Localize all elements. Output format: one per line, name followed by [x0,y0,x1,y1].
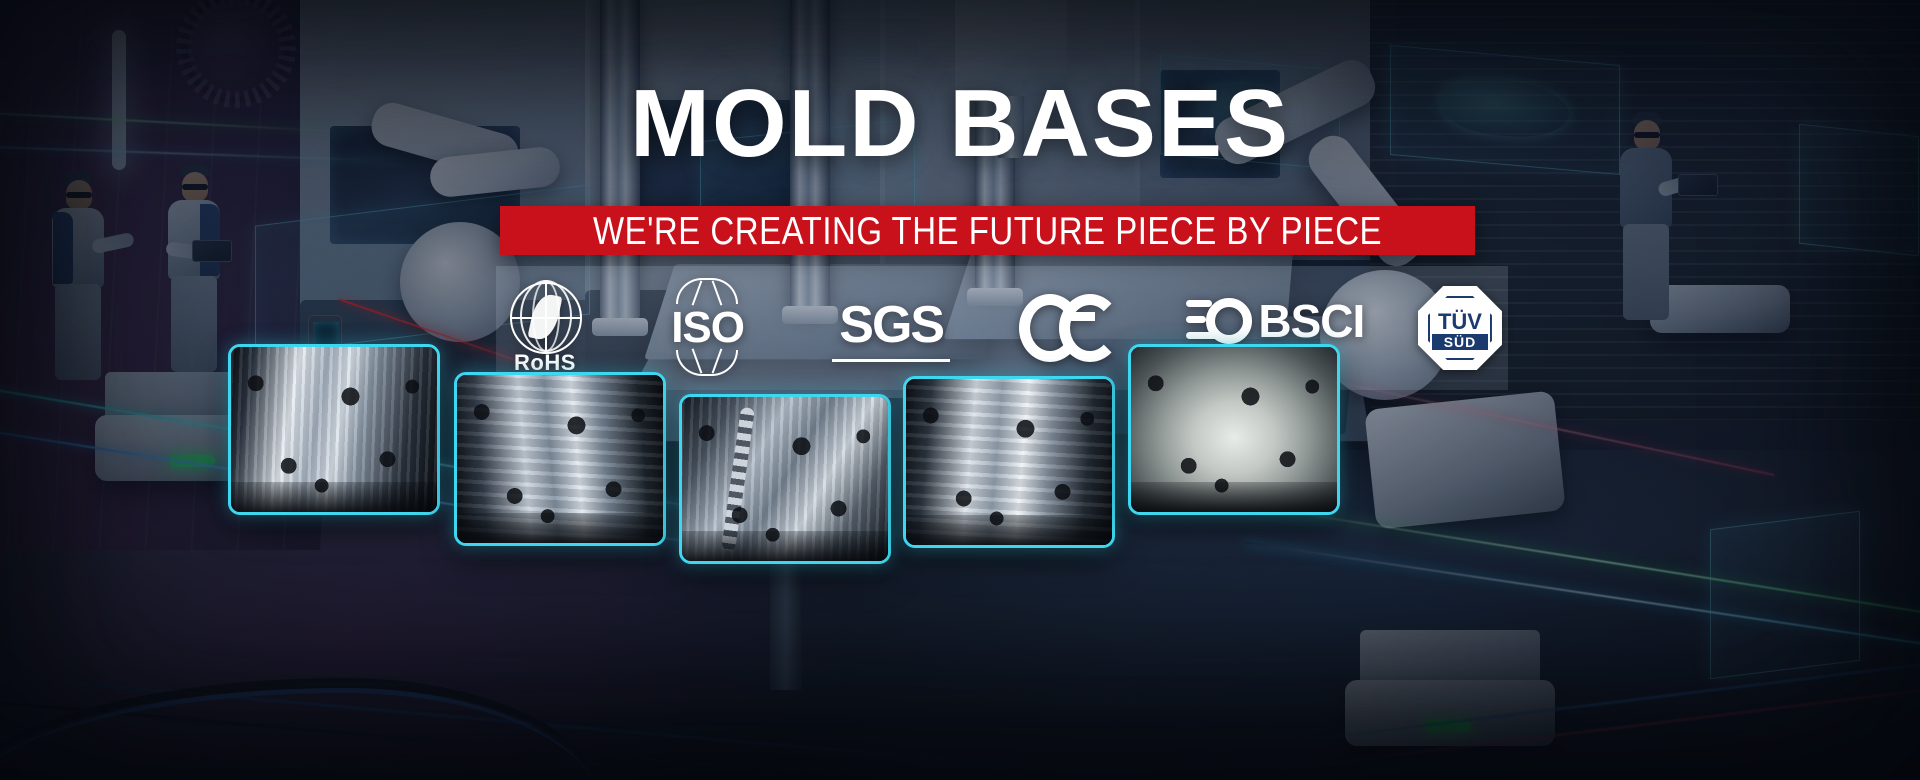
tuv-label: TÜV [1418,309,1502,335]
ce-mark-e-icon [1059,294,1121,362]
product-thumbnail-1[interactable] [228,344,440,515]
tuv-sud-certification-logo: TÜV SÜD [1418,286,1502,370]
rohs-certification-logo: RoHS [502,282,588,374]
banner-title: MOLD BASES [0,76,1920,172]
thumbnail-shadow [682,531,888,561]
thumbnail-image-2 [457,375,663,543]
thumbnail-image-1 [231,347,437,512]
banner-subtitle-bar: WE'RE CREATING THE FUTURE PIECE BY PIECE [500,206,1475,255]
thumbnail-image-4 [906,379,1112,545]
bsci-line-2-icon [1186,316,1206,323]
banner-content: MOLD BASES WE'RE CREATING THE FUTURE PIE… [0,0,1920,780]
tuv-sub-label: SÜD [1432,334,1488,350]
ce-certification-logo [1019,282,1123,374]
thumbnail-shadow [906,515,1112,545]
bsci-line-3-icon [1186,332,1218,339]
banner-subtitle-text: WE'RE CREATING THE FUTURE PIECE BY PIECE [593,208,1382,253]
sgs-underline-icon [832,359,950,362]
bsci-mark-icon [1186,296,1252,348]
bsci-line-1-icon [1186,300,1212,307]
sgs-certification-logo: SGS [827,282,955,374]
sgs-label: SGS [839,295,943,355]
iso-certification-logo: ISO [652,282,764,374]
iso-globe-top-icon [676,278,738,304]
product-thumbnail-2[interactable] [454,372,666,546]
product-thumbnail-4[interactable] [903,376,1115,548]
mold-bases-hero-banner: MOLD BASES WE'RE CREATING THE FUTURE PIE… [0,0,1920,780]
bsci-label: BSCI [1258,294,1364,348]
thumbnail-image-3 [682,397,888,561]
thumbnail-shadow [457,513,663,543]
thumbnail-image-5 [1131,347,1337,512]
iso-globe-bottom-icon [676,350,738,376]
iso-label: ISO [671,303,744,353]
product-thumbnail-3[interactable] [679,394,891,564]
product-thumbnail-5[interactable] [1128,344,1340,515]
ce-mark-e-bar-icon [1065,312,1095,321]
thumbnail-shadow [1131,482,1337,512]
thumbnail-shadow [231,482,437,512]
